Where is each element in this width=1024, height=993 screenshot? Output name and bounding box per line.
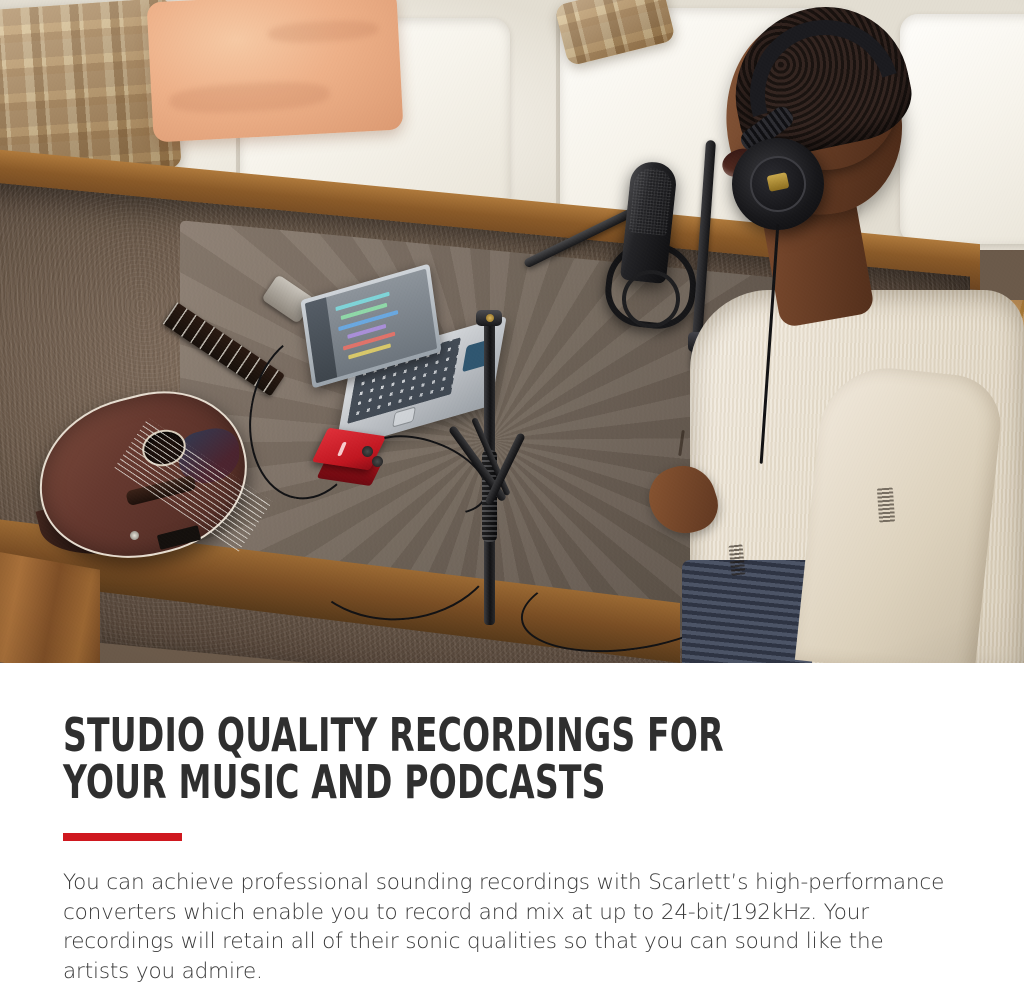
- microphone-stand-screw: [486, 314, 494, 322]
- singer-trousers: [682, 560, 812, 663]
- pillow-fold-1: [169, 79, 330, 115]
- accent-divider: [63, 833, 182, 841]
- sweater-distress-1: [678, 430, 685, 456]
- content-section: STUDIO QUALITY RECORDINGS FOR YOUR MUSIC…: [0, 663, 1024, 993]
- pillow-fold-2: [268, 19, 379, 45]
- hero-photo: [0, 0, 1024, 663]
- body-paragraph: You can achieve professional sounding re…: [63, 868, 953, 986]
- sweater-distress-3: [877, 487, 895, 522]
- page-title: STUDIO QUALITY RECORDINGS FOR YOUR MUSIC…: [63, 712, 724, 806]
- singer-arm: [795, 361, 1005, 663]
- peach-pillow: [147, 0, 404, 142]
- singer: [620, 0, 1024, 663]
- sweater-distress-2: [728, 544, 745, 575]
- page-root: STUDIO QUALITY RECORDINGS FOR YOUR MUSIC…: [0, 0, 1024, 993]
